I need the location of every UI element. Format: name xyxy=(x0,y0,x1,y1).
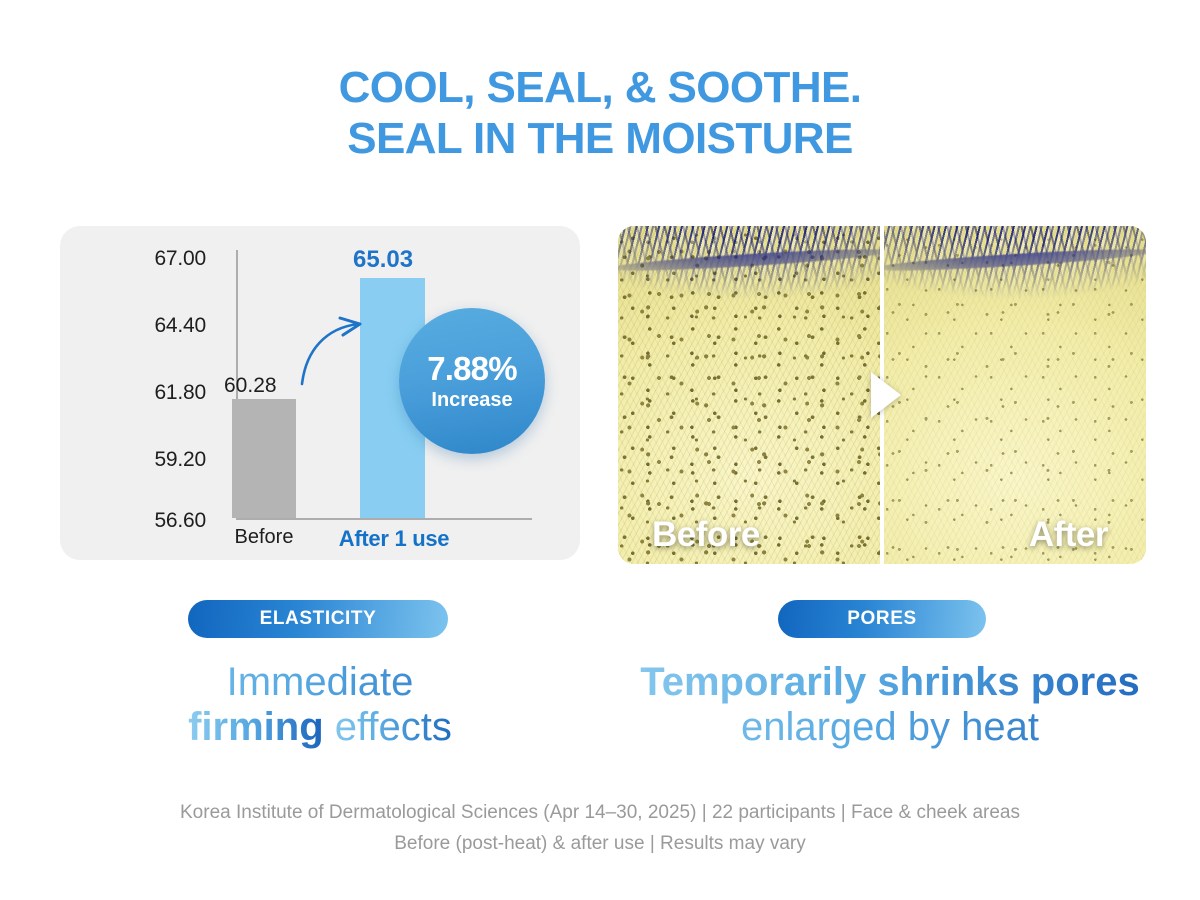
increase-word: Increase xyxy=(431,390,512,410)
subheadline-left-bold: firming xyxy=(188,705,324,749)
page-title: COOL, SEAL, & SOOTHE. SEAL IN THE MOISTU… xyxy=(0,62,1200,165)
bar-value-before: 60.28 xyxy=(224,374,277,398)
play-triangle-icon xyxy=(871,372,901,418)
y-tick-label: 67.00 xyxy=(122,247,206,271)
subheadline-left: Immediate firming effects xyxy=(60,660,580,750)
subheadline-right-line-1: Temporarily shrinks pores xyxy=(600,660,1180,705)
hairline-band xyxy=(618,226,882,314)
photo-before: Before xyxy=(618,226,882,564)
increase-badge: 7.88% Increase xyxy=(399,308,545,454)
subheadline-right: Temporarily shrinks pores enlarged by he… xyxy=(600,660,1180,750)
x-axis-line xyxy=(236,518,532,520)
headline-line-1: COOL, SEAL, & SOOTHE. xyxy=(0,62,1200,113)
bar-before xyxy=(232,399,296,518)
photo-after: After xyxy=(882,226,1146,564)
y-tick-label: 56.60 xyxy=(122,509,206,533)
bar-chart: 67.00 64.40 61.80 59.20 56.60 60.28 65.0… xyxy=(60,226,580,560)
elasticity-chart-card: 67.00 64.40 61.80 59.20 56.60 60.28 65.0… xyxy=(60,226,580,560)
footnote-line-1: Korea Institute of Dermatological Scienc… xyxy=(0,798,1200,829)
subheadline-left-rest: effects xyxy=(324,705,452,749)
increase-arrow-icon xyxy=(296,316,376,388)
bar-value-after: 65.03 xyxy=(353,246,413,274)
y-tick-label: 64.40 xyxy=(122,314,206,338)
panels-row: 67.00 64.40 61.80 59.20 56.60 60.28 65.0… xyxy=(0,226,1200,562)
subheadline-right-line-2: enlarged by heat xyxy=(600,705,1180,750)
increase-percent: 7.88% xyxy=(427,352,517,385)
badge-pores-label: PORES xyxy=(847,608,917,630)
y-tick-label: 61.80 xyxy=(122,381,206,405)
hairline-band xyxy=(882,226,1146,314)
photo-label-after: After xyxy=(1029,517,1108,552)
subheadline-left-line-1: Immediate xyxy=(60,660,580,705)
x-tick-label-before: Before xyxy=(208,526,320,549)
badge-elasticity-label: ELASTICITY xyxy=(260,608,377,630)
badge-pores: PORES xyxy=(778,600,986,638)
y-tick-label: 59.20 xyxy=(122,448,206,472)
x-tick-label-after: After 1 use xyxy=(332,526,456,552)
badge-elasticity: ELASTICITY xyxy=(188,600,448,638)
pores-before-after-card: Before After xyxy=(618,226,1146,564)
footnote-line-2: Before (post-heat) & after use | Results… xyxy=(0,829,1200,860)
photo-label-before: Before xyxy=(652,517,760,552)
study-footnote: Korea Institute of Dermatological Scienc… xyxy=(0,798,1200,860)
headline-line-2: SEAL IN THE MOISTURE xyxy=(0,113,1200,164)
